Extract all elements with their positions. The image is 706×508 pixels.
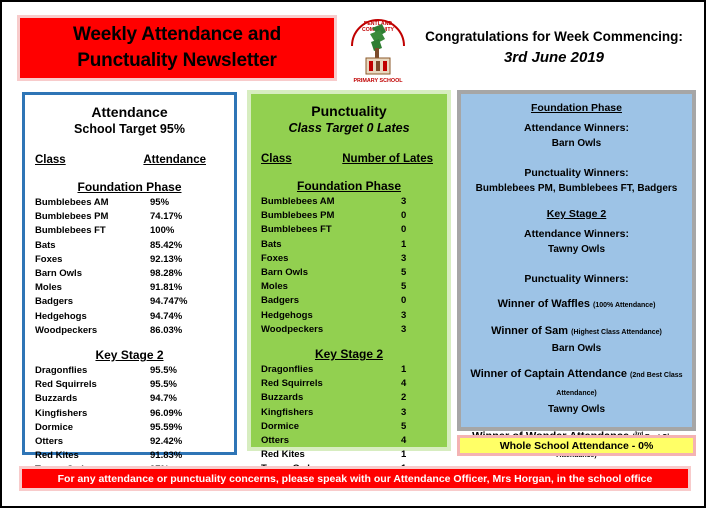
row-class-name: Otters [35,435,150,449]
row-class-name: Dragonflies [35,364,150,378]
table-row: Red Squirrels95.5% [35,378,224,392]
congratulations-block: Congratulations for Week Commencing: 3rd… [414,18,694,78]
row-class-name: Bumblebees AM [35,196,150,210]
punctuality-foundation-rows: Bumblebees AM3Bumblebees PM0Bumblebees F… [251,195,447,337]
row-class-name: Kingfishers [35,407,150,421]
table-row: Bumblebees PM0 [261,209,437,223]
row-value: 1 [379,448,437,462]
award-sam-note: (Highest Class Attendance) [571,329,662,336]
table-row: Moles5 [261,280,437,294]
row-class-name: Dragonflies [261,363,379,377]
row-value: 0 [379,294,437,308]
punctuality-ks2-heading: Key Stage 2 [251,347,447,361]
table-row: Otters4 [261,434,437,448]
row-value: 98.28% [150,267,224,281]
row-class-name: Buzzards [35,392,150,406]
row-class-name: Red Kites [261,448,379,462]
row-value: 91.81% [150,281,224,295]
winners-panel: Foundation Phase Attendance Winners: Bar… [457,90,696,431]
row-class-name: Bumblebees PM [261,209,379,223]
row-value: 95.59% [150,421,224,435]
row-class-name: Hedgehogs [261,309,379,323]
table-row: Dormice5 [261,420,437,434]
table-row: Bumblebees FT0 [261,223,437,237]
spacer [467,258,686,267]
fp-attendance-winners-label: Attendance Winners: [467,120,686,136]
table-row: Bats1 [261,238,437,252]
attendance-panel: Attendance School Target 95% Class Atten… [22,92,237,455]
spacer [467,197,686,206]
table-row: Red Squirrels4 [261,377,437,391]
row-class-name: Dormice [35,421,150,435]
attendance-foundation-rows: Bumblebees AM95%Bumblebees PM74.17%Bumbl… [25,196,234,338]
row-value: 92.13% [150,253,224,267]
row-class-name: Bats [261,238,379,252]
table-row: Bumblebees FT100% [35,224,224,238]
whole-school-attendance-text: Whole School Attendance - 0% [500,440,654,452]
row-value: 3 [379,406,437,420]
title-line-1: Weekly Attendance and [73,22,281,48]
award-captain-label: Winner of Captain Attendance [470,368,627,380]
row-class-name: Badgers [261,294,379,308]
row-value: 95.5% [150,378,224,392]
row-value: 1 [379,238,437,252]
ks2-attendance-winners-label: Attendance Winners: [467,226,686,242]
table-row: Foxes3 [261,252,437,266]
table-row: Kingfishers96.09% [35,407,224,421]
award-captain-attendance: Winner of Captain Attendance (2nd Best C… [467,366,686,402]
row-value: 5 [379,266,437,280]
award-sam-label: Winner of Sam [491,325,568,337]
table-row: Dragonflies95.5% [35,364,224,378]
punctuality-target: Class Target 0 Lates [251,120,447,137]
attendance-col-class: Class [35,154,66,166]
winners-ks2-heading: Key Stage 2 [467,206,686,222]
row-value: 92.42% [150,435,224,449]
table-row: Woodpeckers86.03% [35,324,224,338]
row-value: 96.09% [150,407,224,421]
fp-punctuality-winners-value: Bumblebees PM, Bumblebees FT, Badgers [467,181,686,197]
attendance-foundation-heading: Foundation Phase [25,180,234,194]
row-value: 5 [379,420,437,434]
row-value: 100% [150,224,224,238]
row-class-name: Woodpeckers [261,323,379,337]
table-row: Kingfishers3 [261,406,437,420]
row-value: 94.7% [150,392,224,406]
row-class-name: Red Kites [35,449,150,463]
table-row: Badgers0 [261,294,437,308]
footer-banner: For any attendance or punctuality concer… [19,466,691,491]
row-class-name: Hedgehogs [35,310,150,324]
table-row: Barn Owls5 [261,266,437,280]
row-class-name: Bats [35,239,150,253]
row-value: 2 [379,391,437,405]
row-class-name: Barn Owls [261,266,379,280]
row-class-name: Bumblebees FT [261,223,379,237]
table-row: Badgers94.747% [35,295,224,309]
table-row: Otters92.42% [35,435,224,449]
punctuality-col-value: Number of Lates [342,153,437,165]
table-row: Hedgehogs3 [261,309,437,323]
row-class-name: Dormice [261,420,379,434]
punctuality-ks2-rows: Dragonflies1Red Squirrels4Buzzards2Kingf… [251,363,447,477]
award-sam-value: Barn Owls [467,341,686,357]
row-value: 4 [379,434,437,448]
row-class-name: Buzzards [261,391,379,405]
table-row: Hedgehogs94.74% [35,310,224,324]
newsletter-title-banner: Weekly Attendance and Punctuality Newsle… [17,15,337,81]
table-row: Bumblebees AM3 [261,195,437,209]
week-commencing-date: 3rd June 2019 [504,47,604,69]
attendance-target: School Target 95% [25,121,234,138]
fp-attendance-winners-value: Barn Owls [467,136,686,152]
punctuality-col-class: Class [261,153,292,165]
punctuality-title: Punctuality [251,102,447,120]
row-class-name: Bumblebees AM [261,195,379,209]
row-value: 3 [379,195,437,209]
row-value: 95.5% [150,364,224,378]
spacer [467,152,686,161]
newsletter-page: Weekly Attendance and Punctuality Newsle… [0,0,706,508]
ks2-punctuality-winners-label: Punctuality Winners: [467,271,686,287]
svg-text:PRIMARY SCHOOL: PRIMARY SCHOOL [353,78,403,84]
footer-text: For any attendance or punctuality concer… [58,473,653,485]
row-class-name: Moles [35,281,150,295]
row-value: 0 [379,223,437,237]
punctuality-panel: Punctuality Class Target 0 Lates Class N… [247,90,451,451]
whole-school-attendance-box: Whole School Attendance - 0% [457,435,696,456]
award-sam: Winner of Sam (Highest Class Attendance) [467,323,686,341]
school-crest-logo: PENTLAND COMMUNITY PRIMARY SCHOOL [346,12,410,86]
row-value: 3 [379,323,437,337]
row-value: 95% [150,196,224,210]
table-row: Moles91.81% [35,281,224,295]
row-class-name: Red Squirrels [261,377,379,391]
row-class-name: Bumblebees PM [35,210,150,224]
table-row: Red Kites91.83% [35,449,224,463]
row-value: 5 [379,280,437,294]
row-value: 85.42% [150,239,224,253]
table-row: Foxes92.13% [35,253,224,267]
row-value: 3 [379,309,437,323]
row-value: 4 [379,377,437,391]
award-waffles-label: Winner of Waffles [498,298,590,310]
attendance-ks2-heading: Key Stage 2 [25,348,234,362]
punctuality-column-headers: Class Number of Lates [251,153,447,165]
table-row: Woodpeckers3 [261,323,437,337]
table-row: Dormice95.59% [35,421,224,435]
row-class-name: Bumblebees FT [35,224,150,238]
row-class-name: Woodpeckers [35,324,150,338]
row-class-name: Moles [261,280,379,294]
table-row: Barn Owls98.28% [35,267,224,281]
congratulations-label: Congratulations for Week Commencing: [425,27,683,47]
award-waffles: Winner of Waffles (100% Attendance) [467,296,686,314]
fp-punctuality-winners-label: Punctuality Winners: [467,165,686,181]
row-class-name: Barn Owls [35,267,150,281]
table-row: Red Kites1 [261,448,437,462]
row-value: 0 [379,209,437,223]
row-value: 86.03% [150,324,224,338]
winners-foundation-heading: Foundation Phase [467,100,686,116]
table-row: Bats85.42% [35,239,224,253]
row-class-name: Badgers [35,295,150,309]
table-row: Dragonflies1 [261,363,437,377]
row-value: 3 [379,252,437,266]
row-class-name: Foxes [261,252,379,266]
row-value: 91.83% [150,449,224,463]
award-waffles-note: (100% Attendance) [593,302,655,309]
attendance-title: Attendance [25,103,234,121]
title-line-2: Punctuality Newsletter [77,48,276,74]
punctuality-foundation-heading: Foundation Phase [251,179,447,193]
row-class-name: Otters [261,434,379,448]
table-row: Buzzards2 [261,391,437,405]
row-class-name: Red Squirrels [35,378,150,392]
table-row: Buzzards94.7% [35,392,224,406]
row-value: 94.74% [150,310,224,324]
attendance-ks2-rows: Dragonflies95.5%Red Squirrels95.5%Buzzar… [25,364,234,478]
row-class-name: Foxes [35,253,150,267]
row-value: 94.747% [150,295,224,309]
table-row: Bumblebees AM95% [35,196,224,210]
attendance-column-headers: Class Attendance [25,154,234,166]
row-class-name: Kingfishers [261,406,379,420]
row-value: 74.17% [150,210,224,224]
row-value: 1 [379,363,437,377]
attendance-col-value: Attendance [143,154,224,166]
award-captain-value: Tawny Owls [467,402,686,418]
table-row: Bumblebees PM74.17% [35,210,224,224]
ks2-attendance-winners-value: Tawny Owls [467,242,686,258]
